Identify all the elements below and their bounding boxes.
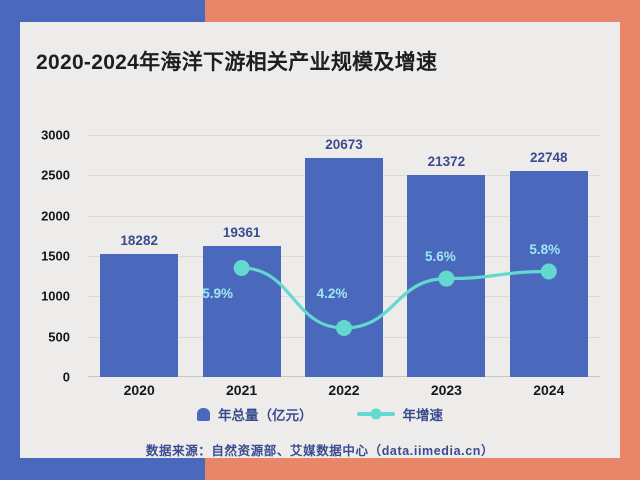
x-axis-tick-label: 2024 — [533, 382, 564, 398]
y-axis-tick-label: 500 — [48, 329, 70, 344]
bar-value-label: 20673 — [325, 137, 363, 152]
y-axis-tick-label: 2000 — [41, 208, 70, 223]
y-axis-tick-label: 2500 — [41, 168, 70, 183]
bar-value-label: 21372 — [428, 154, 466, 169]
y-axis-ticks: 050010001500200025003000 — [0, 135, 80, 377]
bar[interactable] — [203, 246, 281, 377]
decorative-blue-top-band — [0, 0, 205, 22]
legend-item-growth[interactable]: 年增速 — [357, 404, 444, 424]
y-axis-tick-label: 3000 — [41, 128, 70, 143]
x-axis-tick-label: 2023 — [431, 382, 462, 398]
x-axis-tick-label: 2021 — [226, 382, 257, 398]
legend-label-growth: 年增速 — [403, 404, 444, 424]
y-axis-tick-label: 1500 — [41, 249, 70, 264]
data-source-note: 数据来源：自然资源部、艾媒数据中心（data.iimedia.cn） — [0, 440, 640, 459]
line-swatch-icon — [357, 412, 395, 416]
y-axis-tick-label: 0 — [63, 370, 70, 385]
growth-value-label: 4.2% — [317, 286, 348, 301]
bar[interactable] — [407, 175, 485, 377]
bar[interactable] — [100, 254, 178, 377]
chart-title: 2020-2024年海洋下游相关产业规模及增速 — [36, 46, 437, 76]
bar-value-label: 18282 — [120, 233, 158, 248]
bar[interactable] — [510, 171, 588, 377]
bar-value-label: 19361 — [223, 225, 261, 240]
y-axis-tick-label: 1000 — [41, 289, 70, 304]
growth-value-label: 5.8% — [529, 242, 560, 257]
growth-value-label: 5.6% — [425, 249, 456, 264]
plot-area — [88, 135, 600, 377]
growth-value-label: 5.9% — [202, 286, 233, 301]
chart-infographic: 2020-2024年海洋下游相关产业规模及增速 0500100015002000… — [0, 0, 640, 480]
bar[interactable] — [305, 158, 383, 377]
bar-value-label: 22748 — [530, 150, 568, 165]
legend-item-total[interactable]: 年总量（亿元） — [197, 404, 313, 424]
legend-label-total: 年总量（亿元） — [218, 404, 313, 424]
x-axis-tick-label: 2022 — [328, 382, 359, 398]
bar-swatch-icon — [197, 408, 210, 421]
x-axis-tick-label: 2020 — [124, 382, 155, 398]
decorative-blue-bottom-band — [0, 458, 205, 480]
line-swatch-dot-icon — [370, 409, 381, 420]
chart-legend: 年总量（亿元） 年增速 — [0, 404, 640, 424]
